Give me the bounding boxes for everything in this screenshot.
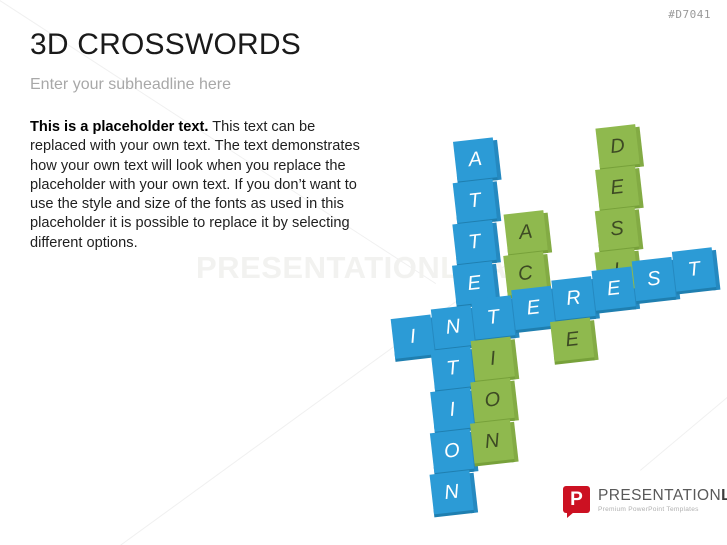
logo-text-block: PRESENTATIONLOAD® Premium PowerPoint Tem… <box>598 486 727 513</box>
crossword-tile: E <box>511 286 555 330</box>
crossword-tile: T <box>453 179 497 223</box>
subheadline: Enter your subheadline here <box>30 76 231 94</box>
logo-mark-letter: P <box>563 486 590 513</box>
speech-bubble-icon: P <box>563 486 590 513</box>
tile-letter: E <box>550 318 594 362</box>
crossword-tile: O <box>430 429 474 473</box>
crossword-tile: N <box>430 470 474 514</box>
tile-letter: D <box>595 124 639 168</box>
tile-letter: O <box>430 429 474 473</box>
tile-letter: E <box>511 286 555 330</box>
logo-tagline: Premium PowerPoint Templates <box>598 506 727 513</box>
crossword-tile: A <box>504 210 548 254</box>
crossword-tile: E <box>550 318 594 362</box>
crossword-tile: E <box>595 165 639 209</box>
crossword-tile: R <box>551 276 595 320</box>
presentationload-logo[interactable]: P PRESENTATIONLOAD® Premium PowerPoint T… <box>563 486 727 513</box>
tile-letter: T <box>471 295 515 339</box>
crossword-stage: ATTEACDESIINTERESTETIIOONN <box>314 99 727 442</box>
crossword-tile: D <box>595 124 639 168</box>
logo-word-second: LOAD <box>721 487 727 504</box>
tile-letter: O <box>470 378 514 422</box>
crossword-tile: A <box>453 137 497 181</box>
document-code: #D7041 <box>668 8 711 21</box>
tile-letter: E <box>595 165 639 209</box>
crossword-graphic[interactable]: ATTEACDESIINTERESTETIIOONN <box>330 120 727 420</box>
tile-letter: S <box>632 257 676 301</box>
logo-wordmark: PRESENTATIONLOAD® <box>598 488 727 504</box>
crossword-tile: N <box>470 419 514 463</box>
tile-letter: S <box>595 207 639 251</box>
crossword-tile: T <box>452 220 496 264</box>
crossword-tile: S <box>595 207 639 251</box>
tile-letter: A <box>504 210 548 254</box>
logo-word-first: PRESENTATION <box>598 487 721 504</box>
tile-letter: N <box>470 419 514 463</box>
tile-letter: T <box>431 346 475 390</box>
body-placeholder-text: This is a placeholder text. This text ca… <box>30 118 366 253</box>
crossword-tile: S <box>632 257 676 301</box>
crossword-tile: E <box>592 267 636 311</box>
tile-letter: I <box>391 315 435 359</box>
crossword-tile: I <box>430 388 474 432</box>
tile-letter: T <box>453 179 497 223</box>
crossword-tile: N <box>431 305 475 349</box>
tile-letter: I <box>430 388 474 432</box>
tile-letter: E <box>592 267 636 311</box>
crossword-tile: T <box>672 247 716 291</box>
crossword-tile: O <box>470 378 514 422</box>
slide-canvas: #D7041 3D CROSSWORDS Enter your subheadl… <box>0 0 727 545</box>
crossword-tile: T <box>431 346 475 390</box>
tile-letter: I <box>471 337 515 381</box>
page-title: 3D CROSSWORDS <box>30 28 301 62</box>
body-lead: This is a placeholder text. <box>30 119 208 135</box>
crossword-tile: I <box>471 337 515 381</box>
tile-letter: A <box>453 137 497 181</box>
crossword-tile: T <box>471 295 515 339</box>
tile-letter: N <box>431 305 475 349</box>
body-rest: This text can be replaced with your own … <box>30 119 360 251</box>
tile-letter: T <box>452 220 496 264</box>
tile-letter: T <box>672 247 716 291</box>
crossword-tile: I <box>391 315 435 359</box>
tile-letter: N <box>430 470 474 514</box>
tile-letter: R <box>551 276 595 320</box>
